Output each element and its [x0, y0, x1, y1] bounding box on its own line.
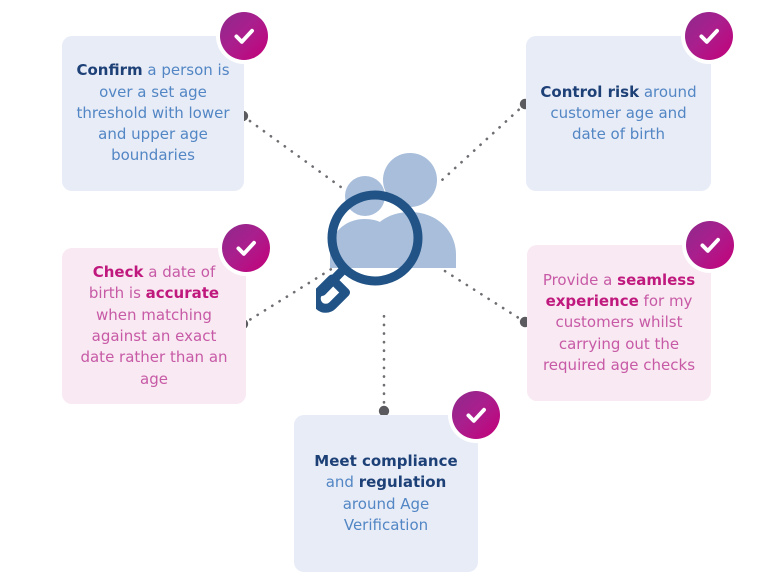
- benefit-card-control: Control risk around customer age and dat…: [526, 36, 711, 191]
- benefit-card-check-body-3: when matching against an exact date rath…: [80, 306, 227, 388]
- infographic-canvas: Confirm a person is over a set age thres…: [0, 0, 768, 586]
- benefit-card-confirm: Confirm a person is over a set age thres…: [62, 36, 244, 191]
- benefit-card-check: Check a date of birth is accurate when m…: [62, 248, 246, 404]
- check-circle-icon-control: [685, 12, 733, 60]
- check-circle-icon-confirm: [220, 12, 268, 60]
- benefit-card-control-emphasis-0: Control risk: [540, 83, 639, 101]
- benefit-card-compliance-body-3: around Age Verification: [343, 495, 430, 534]
- check-circle-icon-seamless: [686, 221, 734, 269]
- benefit-card-compliance: Meet compliance and regulation around Ag…: [294, 415, 478, 572]
- benefit-card-seamless: Provide a seamless experience for my cus…: [527, 245, 711, 401]
- benefit-card-seamless-body-0: Provide a: [543, 271, 617, 289]
- benefit-card-confirm-emphasis-0: Confirm: [76, 61, 142, 79]
- benefit-card-compliance-body-1: and: [326, 473, 359, 491]
- check-circle-icon-check: [222, 224, 270, 272]
- check-circle-icon-compliance: [452, 391, 500, 439]
- benefit-card-confirm-text: Confirm a person is over a set age thres…: [62, 60, 244, 166]
- people-silhouette: [330, 153, 456, 268]
- benefit-card-seamless-text: Provide a seamless experience for my cus…: [527, 270, 711, 376]
- benefit-card-compliance-emphasis-0: Meet compliance: [314, 452, 457, 470]
- benefit-card-compliance-emphasis-2: regulation: [359, 473, 447, 491]
- benefit-card-compliance-text: Meet compliance and regulation around Ag…: [294, 451, 478, 536]
- benefit-card-check-emphasis-2: accurate: [146, 284, 219, 302]
- benefit-card-check-text: Check a date of birth is accurate when m…: [62, 262, 246, 390]
- people-magnifier-icon: [316, 148, 476, 318]
- benefit-card-control-text: Control risk around customer age and dat…: [526, 82, 711, 146]
- benefit-card-check-emphasis-0: Check: [93, 263, 144, 281]
